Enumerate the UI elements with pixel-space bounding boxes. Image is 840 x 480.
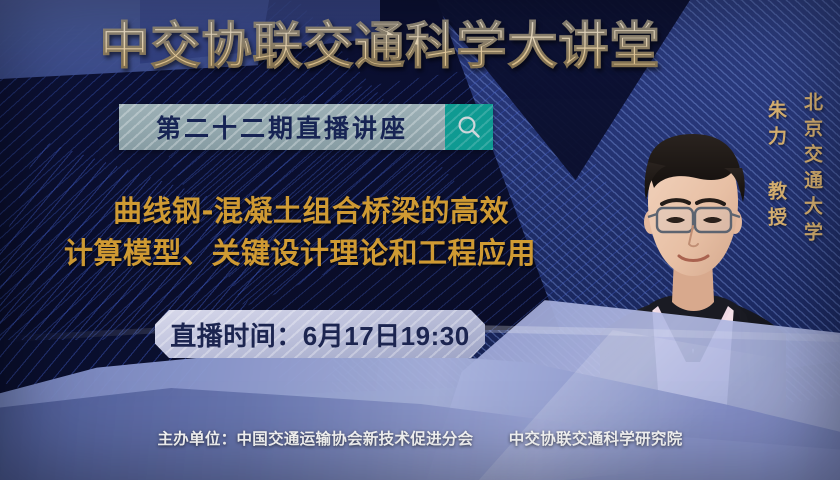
search-input[interactable]: 第二十二期直播讲座	[119, 104, 445, 150]
episode-search-bar[interactable]: 第二十二期直播讲座	[119, 104, 493, 150]
lecture-title: 曲线钢-混凝土组合桥梁的高效 计算模型、关键设计理论和工程应用	[0, 190, 600, 274]
footer-organizer-secondary: 中交协联交通科学研究院	[509, 431, 683, 448]
episode-label: 第二十二期直播讲座	[156, 109, 408, 145]
footer-organizers: 主办单位：中国交通运输协会新技术促进分会 中交协联交通科学研究院	[0, 427, 840, 449]
speaker-affiliation: 北京交通大学	[799, 92, 826, 248]
live-lecture-poster: 中交协联交通科学大讲堂 第二十二期直播讲座 曲线钢-混凝土组合桥梁的高效 计算模…	[0, 0, 840, 480]
broadcast-time-badge: 直播时间：6月17日19:30	[155, 310, 485, 358]
speaker-portrait	[600, 118, 786, 418]
lecture-title-line2: 计算模型、关键设计理论和工程应用	[0, 232, 600, 274]
broadcast-time-text: 直播时间：6月17日19:30	[170, 316, 469, 353]
speaker-name-title: 朱力 教授	[763, 100, 790, 233]
search-icon	[456, 114, 482, 140]
search-button[interactable]	[445, 104, 493, 150]
footer-organizer-primary: 主办单位：中国交通运输协会新技术促进分会	[157, 431, 473, 448]
lecture-title-line1: 曲线钢-混凝土组合桥梁的高效	[0, 190, 600, 232]
page-title: 中交协联交通科学大讲堂	[0, 17, 760, 75]
